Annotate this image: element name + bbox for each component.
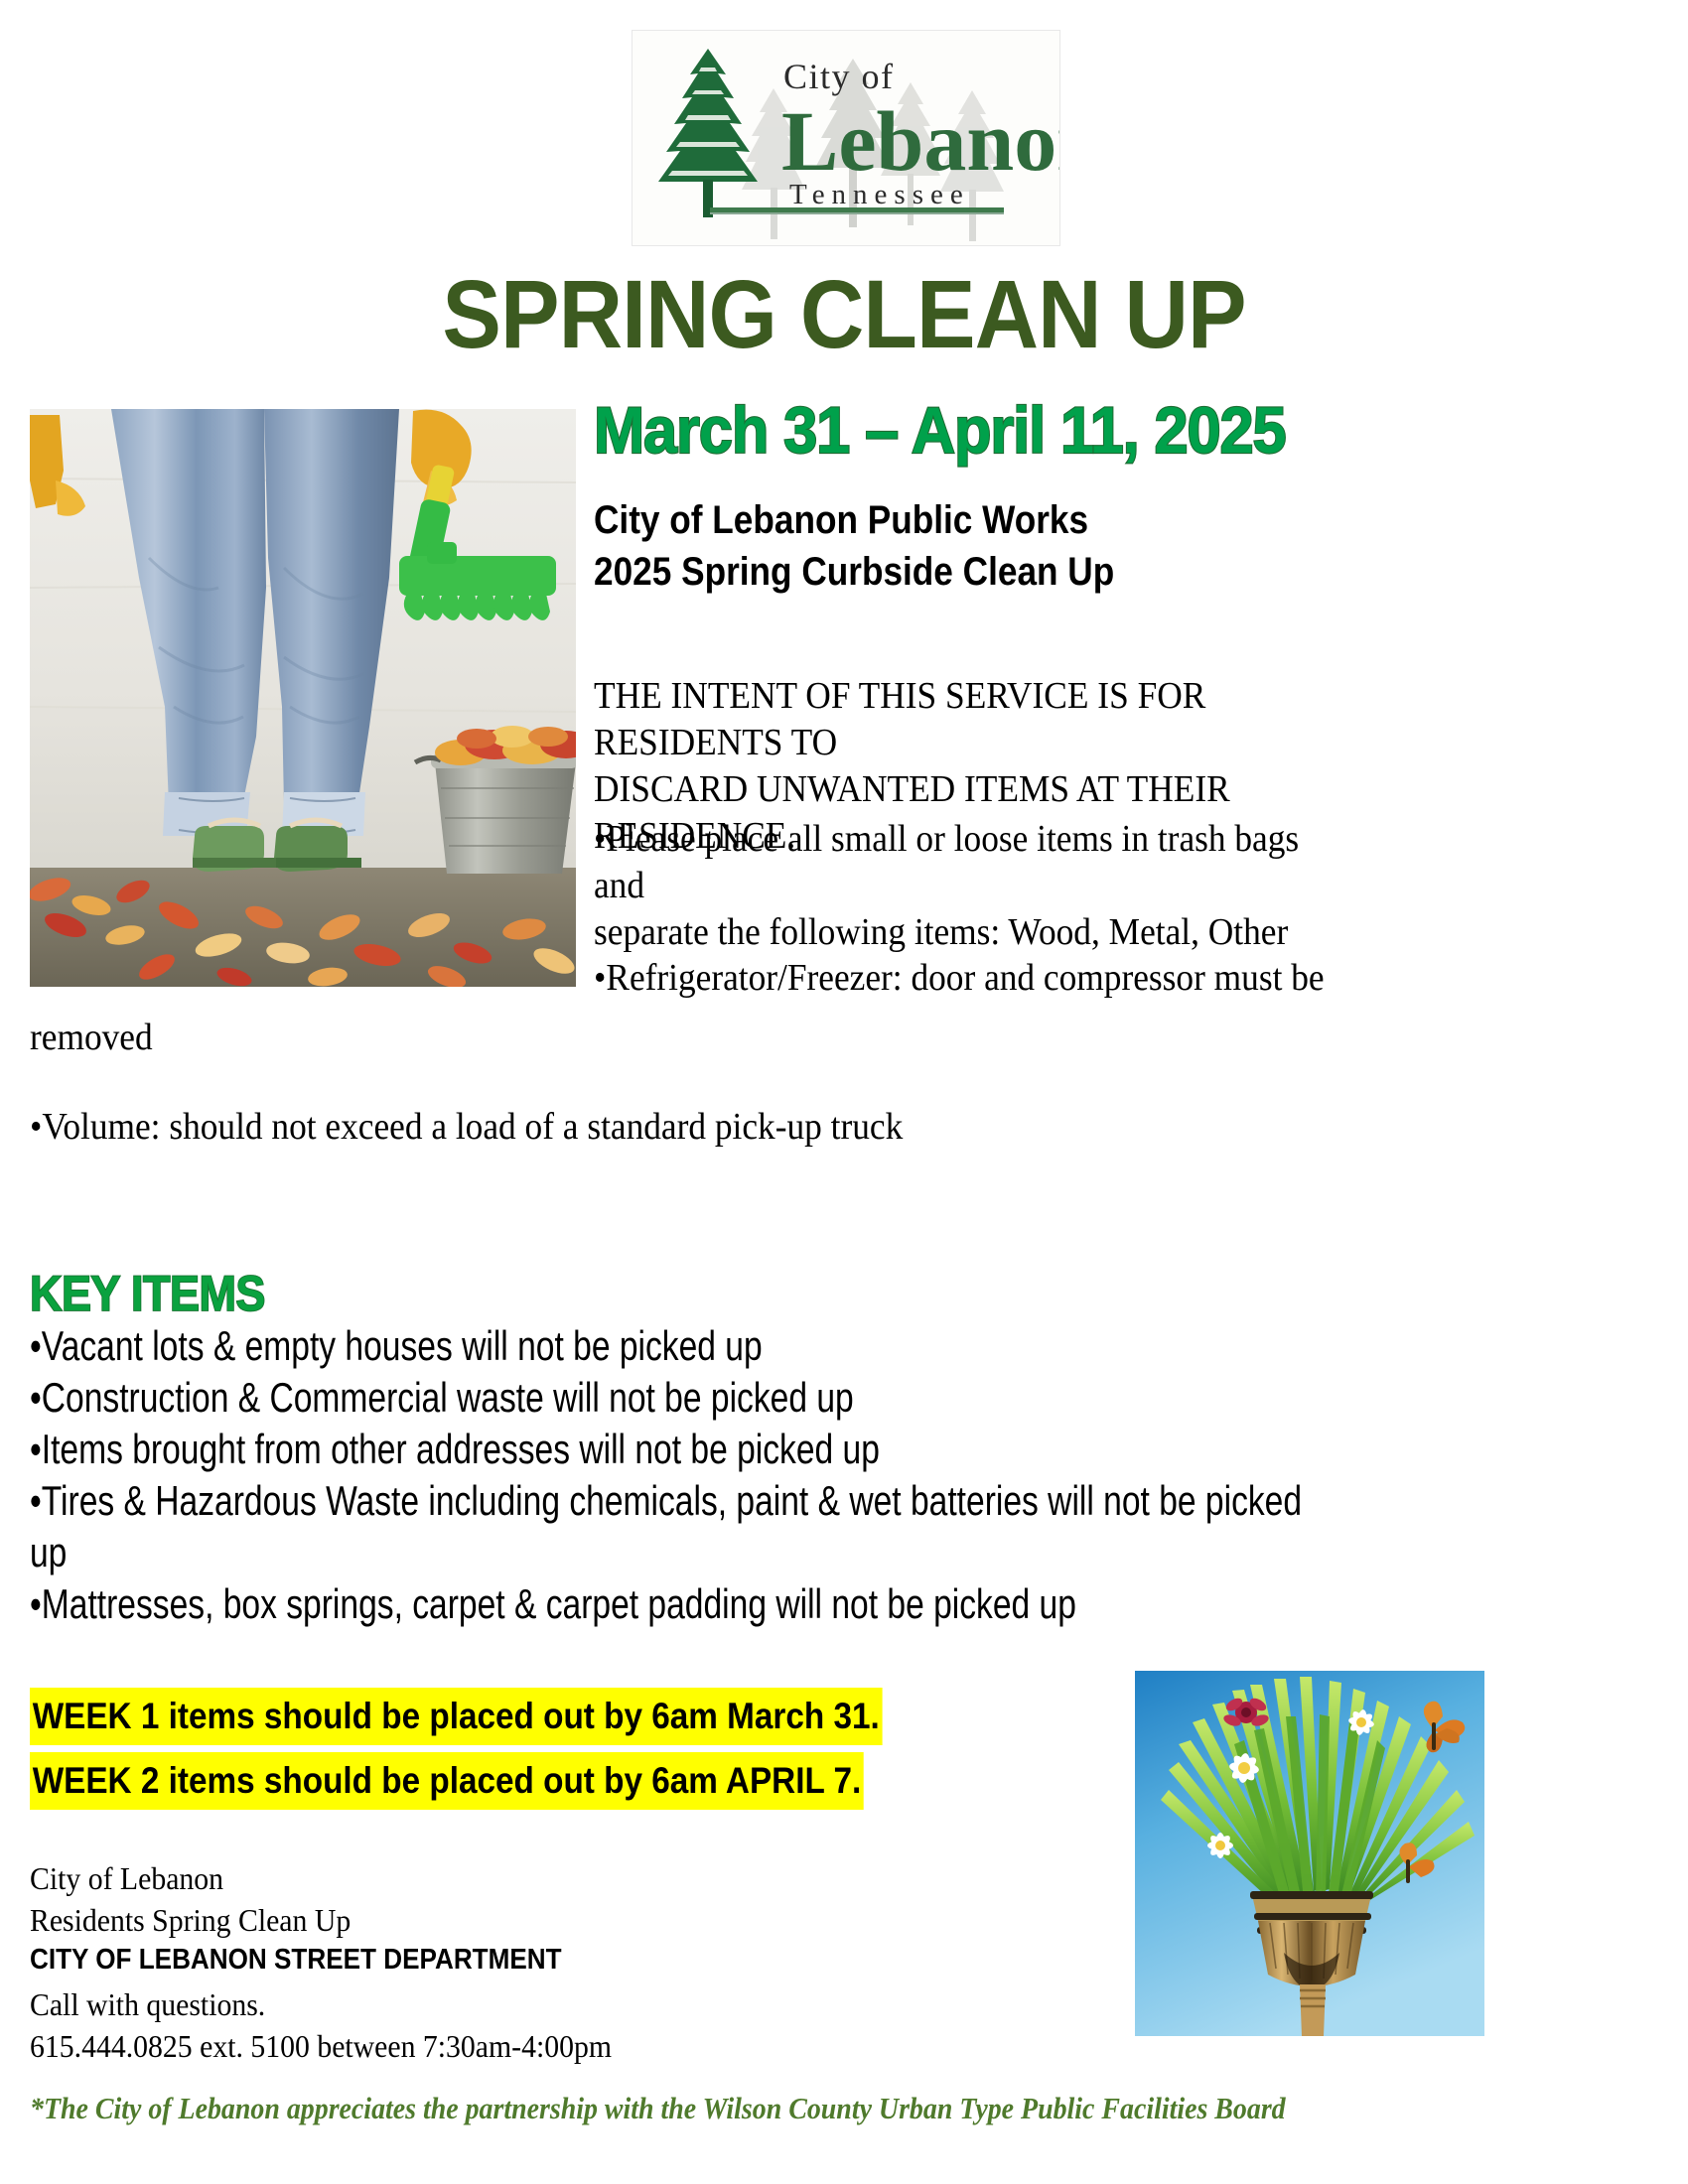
key-item: •Tires & Hazardous Waste including chemi…	[30, 1475, 1333, 1578]
week-1-notice: WEEK 1 items should be placed out by 6am…	[30, 1688, 977, 1745]
logo-lebanon-text: Lebanon	[781, 93, 1059, 189]
footer-call: Call with questions.	[30, 1984, 265, 2025]
city-of-lebanon-logo: City of Lebanon Tennessee	[632, 30, 1060, 246]
key-items-heading: KEY ITEMS	[30, 1269, 265, 1318]
raking-leaves-photo	[30, 409, 576, 987]
logo-city-of-text: City of	[783, 57, 895, 96]
key-item: •Construction & Commercial waste will no…	[30, 1372, 1333, 1424]
subheading-public-works: City of Lebanon Public Works	[594, 496, 1311, 545]
key-items-list: •Vacant lots & empty houses will not be …	[30, 1320, 1333, 1630]
bullet-bags-line-2: separate the following items: Wood, Meta…	[594, 909, 1351, 956]
logo-tennessee-text: Tennessee	[789, 179, 970, 210]
bullet-refrigerator: •Refrigerator/Freezer: door and compress…	[594, 955, 1351, 1002]
week-1-text: WEEK 1 items should be placed out by 6am…	[30, 1688, 882, 1745]
daisy-flower-lower-left	[1207, 1833, 1233, 1858]
footer-department: CITY OF LEBANON STREET DEPARTMENT	[30, 1942, 562, 1979]
page-title: SPRING CLEAN UP	[378, 266, 1310, 362]
intent-line-1: THE INTENT OF THIS SERVICE IS FOR RESIDE…	[594, 673, 1351, 766]
week-2-text: WEEK 2 items should be placed out by 6am…	[30, 1752, 864, 1810]
key-item: •Vacant lots & empty houses will not be …	[30, 1320, 1333, 1372]
grass-broom-photo	[1135, 1671, 1484, 2036]
logo-artwork: City of Lebanon Tennessee	[633, 31, 1059, 245]
flyer-page: City of Lebanon Tennessee SPRING CLEAN U…	[0, 0, 1688, 2184]
bullet-refrigerator-continuation: removed	[30, 1015, 1544, 1061]
bullet-volume: •Volume: should not exceed a load of a s…	[30, 1104, 1544, 1151]
event-dates: March 31 – April 11, 2025	[594, 397, 1333, 463]
bullet-bags-line-1: •Please place all small or loose items i…	[594, 816, 1351, 909]
footer-city: City of Lebanon	[30, 1858, 223, 1899]
week-2-notice: WEEK 2 items should be placed out by 6am…	[30, 1752, 956, 1810]
subheading-curbside: 2025 Spring Curbside Clean Up	[594, 548, 1311, 597]
footer-phone: 615.444.0825 ext. 5100 between 7:30am-4:…	[30, 2026, 612, 2067]
raking-leaves-illustration	[30, 409, 576, 987]
key-item: •Mattresses, box springs, carpet & carpe…	[30, 1578, 1333, 1630]
footer-residents: Residents Spring Clean Up	[30, 1900, 351, 1941]
bullet-trash-bags: •Please place all small or loose items i…	[594, 816, 1351, 956]
grass-broom-illustration	[1135, 1671, 1484, 2036]
partnership-note: *The City of Lebanon appreciates the par…	[30, 2090, 1286, 2126]
key-item: •Items brought from other addresses will…	[30, 1424, 1333, 1475]
